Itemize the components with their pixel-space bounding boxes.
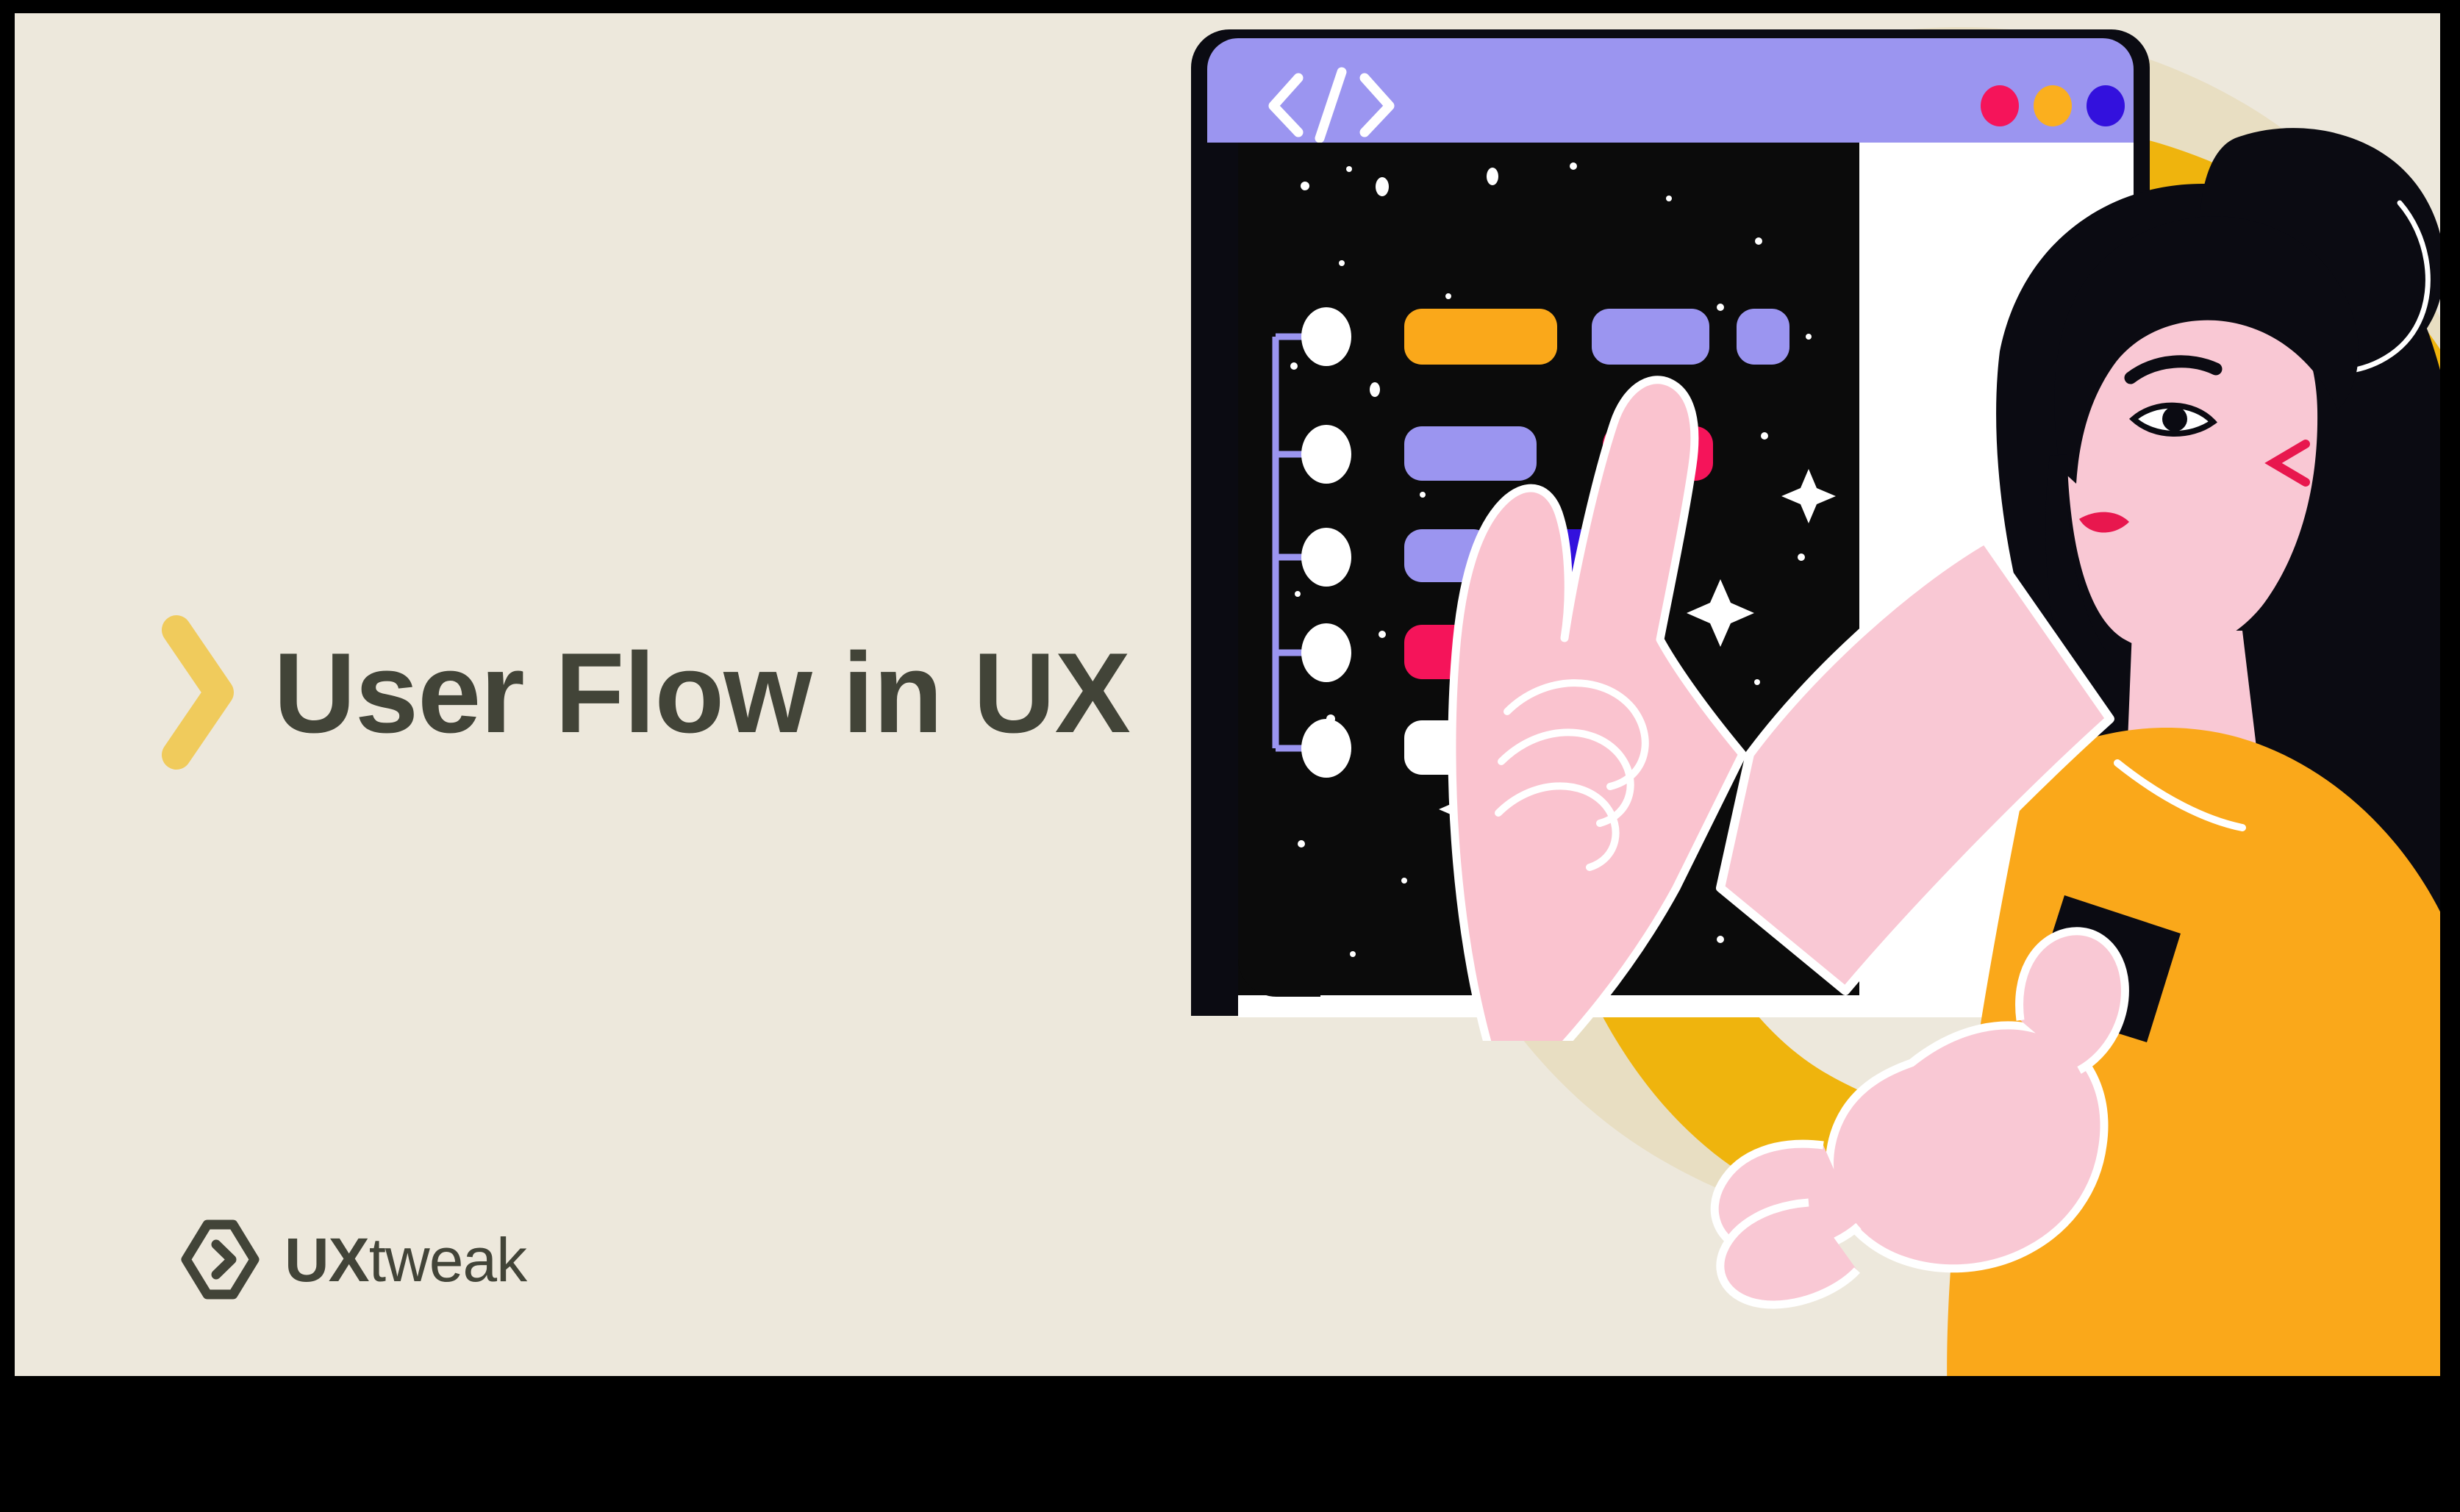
maximize-dot	[2087, 85, 2125, 126]
slide-canvas: User Flow in UX UXtweak	[15, 13, 2440, 1376]
node-2	[1301, 425, 1351, 484]
brand-wordmark: UXtweak	[285, 1229, 526, 1291]
minimize-dot	[2034, 85, 2072, 126]
slide-bottom-bar	[0, 1376, 2460, 1512]
chevron-right-icon	[162, 612, 235, 773]
close-dot	[1981, 85, 2019, 126]
node-5	[1301, 719, 1351, 778]
brand-logo[interactable]: UXtweak	[178, 1217, 526, 1302]
title-block: User Flow in UX	[162, 612, 1130, 773]
node-1	[1301, 307, 1351, 366]
pupil	[2162, 406, 2187, 431]
node-3	[1301, 528, 1351, 587]
brand-name-bold: UX	[285, 1225, 369, 1294]
page-title: User Flow in UX	[273, 636, 1130, 750]
slide-frame: User Flow in UX UXtweak	[0, 0, 2460, 1512]
hexagon-chevron-logo-icon	[178, 1217, 262, 1302]
illustration-woman-pointing-at-code-window	[1162, 13, 2440, 1376]
brand-name-light: tweak	[369, 1225, 526, 1294]
node-4	[1301, 623, 1351, 682]
